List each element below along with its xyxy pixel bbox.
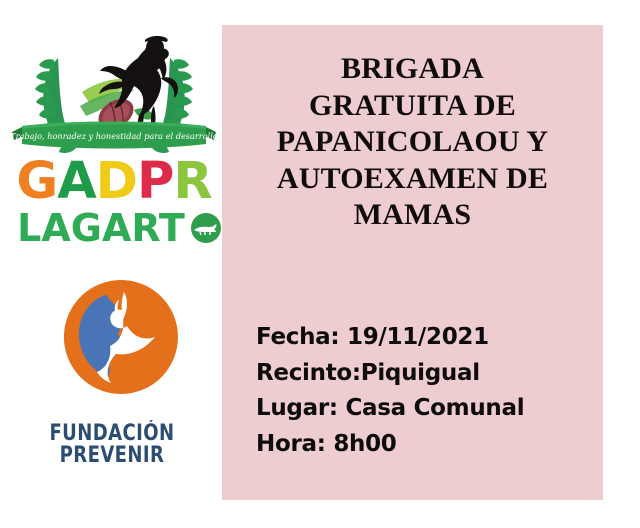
detail-recinto: Recinto:Piquigual [256,356,601,392]
dove-face-circle-icon [62,278,180,396]
announcement-headline: BRIGADA GRATUITA DE PAPANICOLAOU Y AUTOE… [230,51,595,234]
logo-column: ¡Trabajo, honradez y honestidad para el … [0,0,222,528]
announcement-panel: BRIGADA GRATUITA DE PAPANICOLAOU Y AUTOE… [222,25,603,500]
headline-line: PAPANICOLAOU Y [230,124,595,161]
ribbon-motto-text: ¡Trabajo, honradez y honestidad para el … [10,131,218,141]
detail-lugar: Lugar: Casa Comunal [256,391,601,427]
prevenir-line2: PREVENIR [30,445,194,467]
detail-fecha: Fecha: 19/11/2021 [256,320,601,356]
headline-line: MAMAS [230,197,595,234]
gadpr-lagarto-logo: ¡Trabajo, honradez y honestidad para el … [10,18,218,248]
poster-canvas: ¡Trabajo, honradez y honestidad para el … [0,0,640,528]
detail-hora: Hora: 8h00 [256,427,601,463]
gadpr-letters: GADPR [10,156,218,207]
event-details: Fecha: 19/11/2021 Recinto:Piquigual Luga… [256,320,601,463]
headline-line: GRATUITA DE [230,88,595,125]
headline-line: AUTOEXAMEN DE [230,161,595,198]
lagarto-wordmark: LAGART [10,209,218,247]
crocodile-circle-icon [190,212,222,244]
headline-line: BRIGADA [230,51,595,88]
prevenir-wordmark: FUNDACIÓN PREVENIR [12,423,212,468]
lagarto-text: LAGART [17,206,185,250]
fundacion-prevenir-logo: FUNDACIÓN PREVENIR [12,278,212,490]
gadpr-wordmark: GADPR LAGART [10,156,218,247]
prevenir-line1: FUNDACIÓN [30,423,194,445]
